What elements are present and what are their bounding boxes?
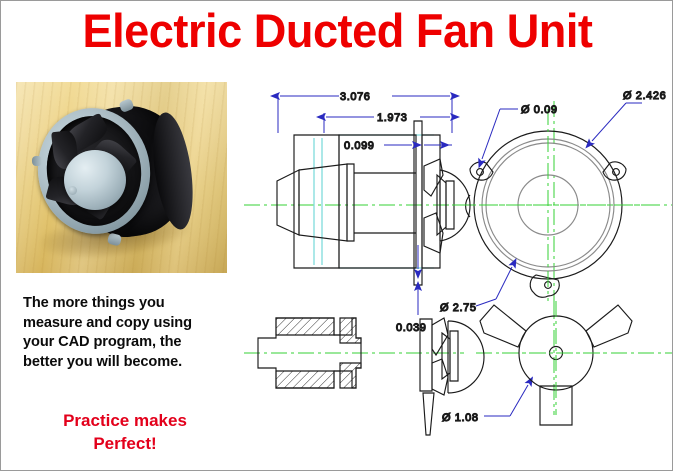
front-circular-view xyxy=(452,109,644,301)
spinner-tip xyxy=(68,186,77,195)
tagline-line-2: Perfect! xyxy=(11,432,239,455)
instructional-text-line-3: your CAD program, the xyxy=(23,333,238,353)
tagline-text: Practice makes Perfect! xyxy=(11,409,239,455)
slide-canvas: Electric Ducted Fan Unit The more things… xyxy=(0,0,673,471)
dimension-inner-bore-dia-label: Ø 2.426 xyxy=(623,90,666,102)
leader-outer-dia xyxy=(476,267,512,306)
dimension-hub-dia-label: Ø 1.08 xyxy=(442,412,479,424)
leader-mount-hole-dia xyxy=(482,109,518,159)
cad-drawing: 3.076 1.973 0.099 xyxy=(244,63,672,468)
instructional-text: The more things you measure and copy usi… xyxy=(23,294,238,372)
dimension-mount-hole-dia-label: Ø 0.09 xyxy=(521,104,558,116)
dimension-flange-offset-label: 0.099 xyxy=(344,140,375,152)
tagline-line-1: Practice makes xyxy=(11,409,239,432)
leader-hub-dia xyxy=(484,385,528,416)
mount-lug xyxy=(32,156,42,166)
instructional-text-line-1: The more things you xyxy=(23,294,238,314)
dimension-flange-thickness-label: 0.039 xyxy=(396,322,427,334)
instructional-text-line-4: better you will become. xyxy=(23,353,238,373)
dimension-outer-dia-label: Ø 2.75 xyxy=(440,302,477,314)
page-title: Electric Ducted Fan Unit xyxy=(14,3,660,59)
instructional-text-line-2: measure and copy using xyxy=(23,314,238,334)
electric-ducted-fan-photo xyxy=(16,82,227,273)
impeller-front-view xyxy=(480,301,632,425)
dimension-overall-length-label: 3.076 xyxy=(340,91,371,103)
leader-inner-bore-dia xyxy=(592,103,642,141)
dimension-housing-length-label: 1.973 xyxy=(377,112,408,124)
fan-spinner-cone xyxy=(64,150,126,210)
